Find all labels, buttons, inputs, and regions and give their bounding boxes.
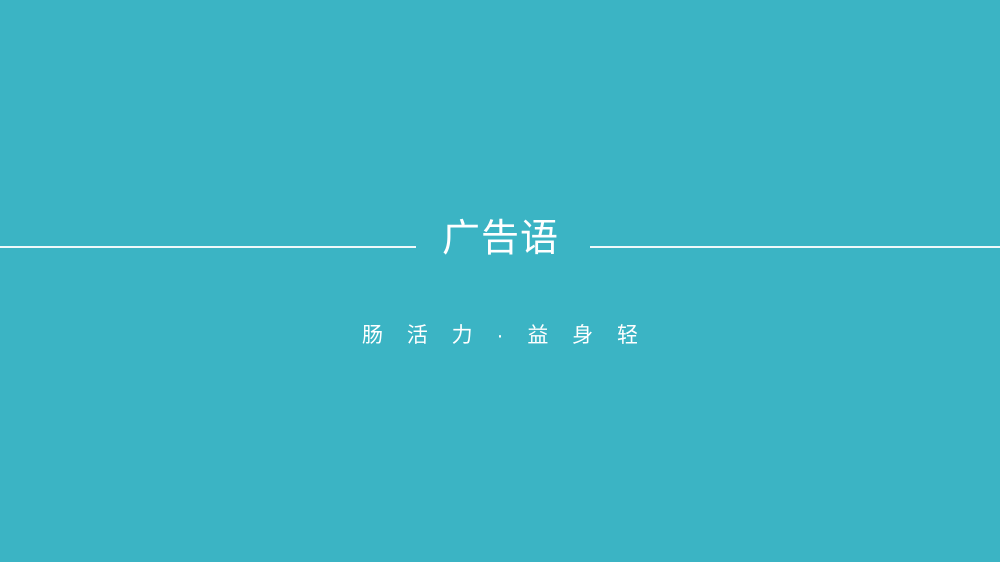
slide-tagline: 肠 活 力 · 益 身 轻 — [353, 322, 647, 349]
slide-canvas: 广告语 肠 活 力 · 益 身 轻 — [0, 0, 1000, 562]
heading-container: 广告语 — [0, 218, 1000, 262]
tagline-container: 肠 活 力 · 益 身 轻 — [0, 322, 1000, 349]
slide-heading: 广告语 — [441, 218, 559, 262]
